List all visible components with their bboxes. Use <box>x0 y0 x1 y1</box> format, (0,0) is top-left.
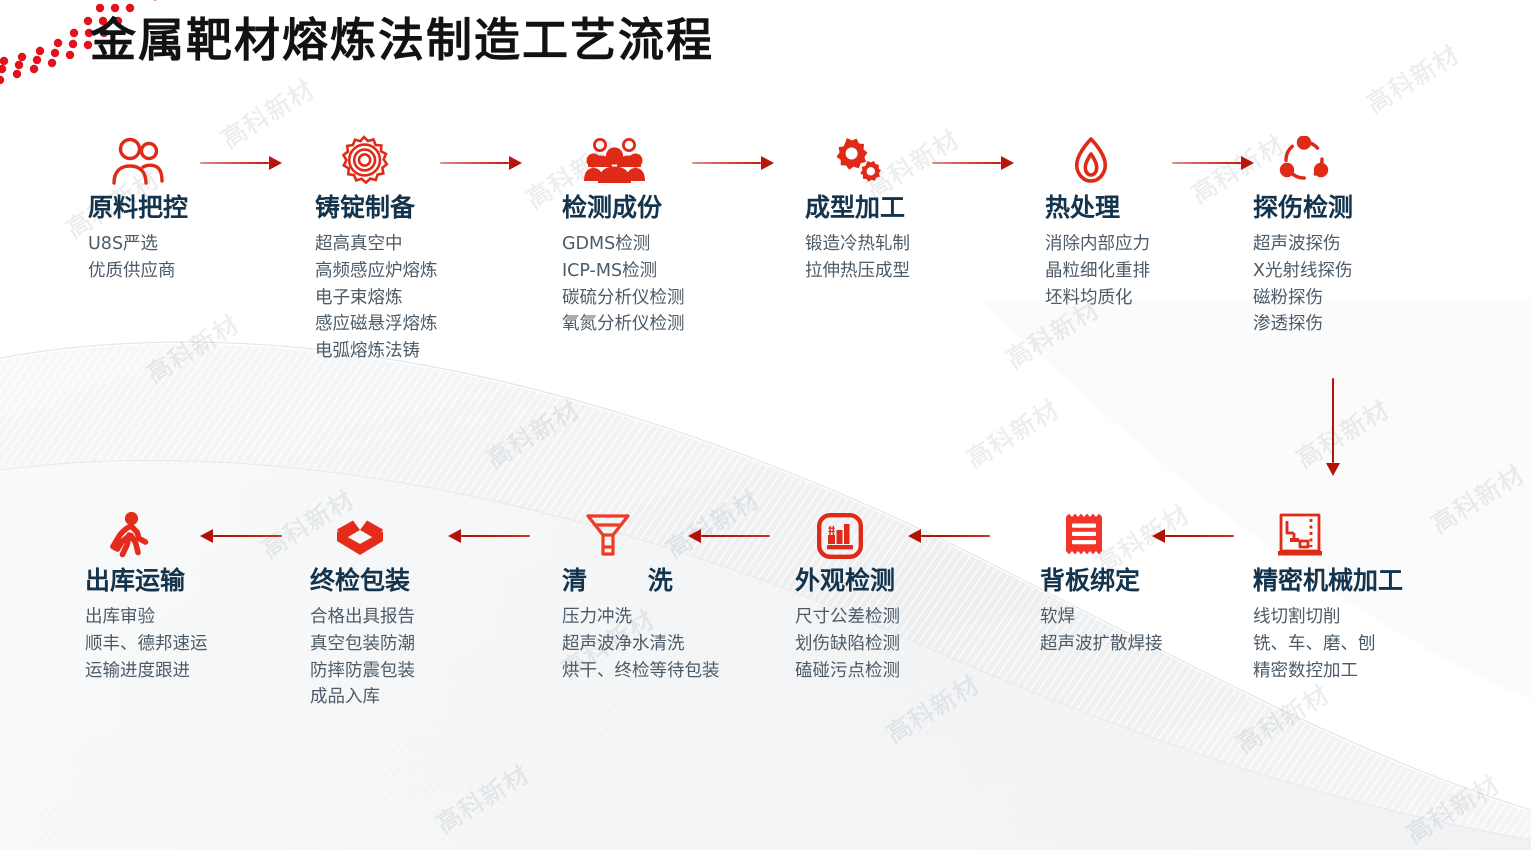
process-step-12[interactable]: 出库运输 出库审验 顺丰、德邦速运 运输进度跟进 <box>85 503 300 684</box>
step-items: 超高真空中 高频感应炉熔炼 电子束熔炼 感应磁悬浮熔炼 电弧熔炼法铸 <box>315 231 530 365</box>
process-step-7[interactable]: 精密机械加工 线切割切削 铣、车、磨、刨 精密数控加工 <box>1253 503 1483 684</box>
process-step-9[interactable]: 外观检测 尺寸公差检测 划伤缺陷检测 磕碰污点检测 <box>795 503 1010 684</box>
flow-arrow-6-to-7 <box>1326 378 1340 476</box>
step-item: X光射线探伤 <box>1253 258 1468 285</box>
arrow-shaft <box>1332 378 1334 463</box>
watermark: 高科新材 <box>478 390 585 476</box>
step-title: 清 洗 <box>562 567 777 595</box>
watermark-layer: 高科新材 高科新材 高科新材 高科新材 高科新材 高科新材 高科新材 高科新材 … <box>0 0 1531 850</box>
step-item: 拉伸热压成型 <box>805 258 1020 285</box>
step-item: 线切割切削 <box>1253 604 1483 631</box>
process-step-1[interactable]: 原料把控 U8S严选 优质供应商 <box>88 130 303 285</box>
step-item: 电弧熔炼法铸 <box>315 338 530 365</box>
step-item: 运输进度跟进 <box>85 658 300 685</box>
step-items: 尺寸公差检测 划伤缺陷检测 磕碰污点检测 <box>795 604 1010 684</box>
watermark: 高科新材 <box>1358 35 1465 121</box>
step-item: GDMS检测 <box>562 231 777 258</box>
two-people-icon <box>88 130 303 186</box>
process-step-5[interactable]: 热处理 消除内部应力 晶粒细化重排 坯料均质化 <box>1045 130 1260 311</box>
walking-person-icon <box>85 503 300 559</box>
step-item: 超声波扩散焊接 <box>1040 631 1255 658</box>
step-items: 线切割切削 铣、车、磨、刨 精密数控加工 <box>1253 604 1483 684</box>
step-item: 铣、车、磨、刨 <box>1253 631 1483 658</box>
step-items: U8S严选 优质供应商 <box>88 231 303 285</box>
step-title: 出库运输 <box>85 567 300 595</box>
step-item: 软焊 <box>1040 604 1255 631</box>
step-title: 探伤检测 <box>1253 194 1468 222</box>
step-item: 消除内部应力 <box>1045 231 1260 258</box>
step-item: 氧氮分析仪检测 <box>562 311 777 338</box>
step-title: 精密机械加工 <box>1253 567 1483 595</box>
step-items: 软焊 超声波扩散焊接 <box>1040 604 1255 658</box>
cnc-machine-icon <box>1253 503 1483 559</box>
watermark: 高科新材 <box>1398 765 1505 850</box>
step-items: 消除内部应力 晶粒细化重排 坯料均质化 <box>1045 231 1260 311</box>
step-item: 顺丰、德邦速运 <box>85 631 300 658</box>
step-item: 防摔防震包装 <box>310 658 525 685</box>
process-step-3[interactable]: 检测成份 GDMS检测 ICP-MS检测 碳硫分析仪检测 氧氮分析仪检测 <box>562 130 777 338</box>
step-items: 出库审验 顺丰、德邦速运 运输进度跟进 <box>85 604 300 684</box>
step-item: 划伤缺陷检测 <box>795 631 1010 658</box>
step-item: 超声波探伤 <box>1253 231 1468 258</box>
open-box-icon <box>310 503 525 559</box>
people-group-icon <box>562 130 777 186</box>
watermark: 高科新材 <box>958 390 1065 476</box>
step-item: 碳硫分析仪检测 <box>562 285 777 312</box>
step-title: 检测成份 <box>562 194 777 222</box>
step-item: 烘干、终检等待包装 <box>562 658 722 685</box>
step-title: 成型加工 <box>805 194 1020 222</box>
step-title: 原料把控 <box>88 194 303 222</box>
step-item: 磕碰污点检测 <box>795 658 1010 685</box>
process-flow-infographic: 高科新材 高科新材 高科新材 高科新材 高科新材 高科新材 高科新材 高科新材 … <box>0 0 1531 850</box>
gear-target-icon <box>315 130 530 186</box>
step-item: 成品入库 <box>310 684 525 711</box>
watermark: 高科新材 <box>138 305 245 391</box>
process-step-4[interactable]: 成型加工 锻造冷热轧制 拉伸热压成型 <box>805 130 1020 285</box>
watermark: 高科新材 <box>428 755 535 841</box>
two-gears-icon <box>805 130 1020 186</box>
step-item: 锻造冷热轧制 <box>805 231 1020 258</box>
arrow-head <box>1326 463 1340 476</box>
flame-icon <box>1045 130 1260 186</box>
page-title: 金属靶材熔炼法制造工艺流程 <box>90 4 714 70</box>
step-title: 热处理 <box>1045 194 1260 222</box>
step-item: 尺寸公差检测 <box>795 604 1010 631</box>
step-item: 感应磁悬浮熔炼 <box>315 311 530 338</box>
step-items: 合格出具报告 真空包装防潮 防摔防震包装 成品入库 <box>310 604 525 711</box>
step-title: 终检包装 <box>310 567 525 595</box>
step-item: 真空包装防潮 <box>310 631 525 658</box>
background-swoosh <box>0 0 1531 850</box>
step-items: 锻造冷热轧制 拉伸热压成型 <box>805 231 1020 285</box>
step-item: 晶粒细化重排 <box>1045 258 1260 285</box>
step-item: 优质供应商 <box>88 258 303 285</box>
watermark: 高科新材 <box>1228 675 1335 761</box>
step-item: ICP-MS检测 <box>562 258 777 285</box>
step-item: 精密数控加工 <box>1253 658 1483 685</box>
step-item: U8S严选 <box>88 231 303 258</box>
process-step-11[interactable]: 终检包装 合格出具报告 真空包装防潮 防摔防震包装 成品入库 <box>310 503 525 711</box>
factory-inspect-icon <box>795 503 1010 559</box>
step-items: 压力冲洗 超声波净水清洗 烘干、终检等待包装 <box>562 604 777 684</box>
watermark: 高科新材 <box>1288 390 1395 476</box>
step-title: 外观检测 <box>795 567 1010 595</box>
three-node-network-icon <box>1253 130 1468 186</box>
process-step-10[interactable]: 清 洗 压力冲洗 超声波净水清洗 烘干、终检等待包装 <box>562 503 777 684</box>
step-item: 电子束熔炼 <box>315 285 530 312</box>
step-item: 渗透探伤 <box>1253 311 1468 338</box>
step-item: 压力冲洗 <box>562 604 777 631</box>
step-item: 坯料均质化 <box>1045 285 1260 312</box>
step-items: 超声波探伤 X光射线探伤 磁粉探伤 渗透探伤 <box>1253 231 1468 338</box>
step-title: 背板绑定 <box>1040 567 1255 595</box>
bonding-plate-icon <box>1040 503 1255 559</box>
step-items: GDMS检测 ICP-MS检测 碳硫分析仪检测 氧氮分析仪检测 <box>562 231 777 338</box>
step-item: 磁粉探伤 <box>1253 285 1468 312</box>
step-title: 铸锭制备 <box>315 194 530 222</box>
step-item: 超声波净水清洗 <box>562 631 777 658</box>
step-item: 超高真空中 <box>315 231 530 258</box>
step-item: 出库审验 <box>85 604 300 631</box>
step-item: 合格出具报告 <box>310 604 525 631</box>
process-step-2[interactable]: 铸锭制备 超高真空中 高频感应炉熔炼 电子束熔炼 感应磁悬浮熔炼 电弧熔炼法铸 <box>315 130 530 365</box>
step-item: 高频感应炉熔炼 <box>315 258 530 285</box>
process-step-6[interactable]: 探伤检测 超声波探伤 X光射线探伤 磁粉探伤 渗透探伤 <box>1253 130 1468 338</box>
process-step-8[interactable]: 背板绑定 软焊 超声波扩散焊接 <box>1040 503 1255 658</box>
funnel-icon <box>562 503 777 559</box>
